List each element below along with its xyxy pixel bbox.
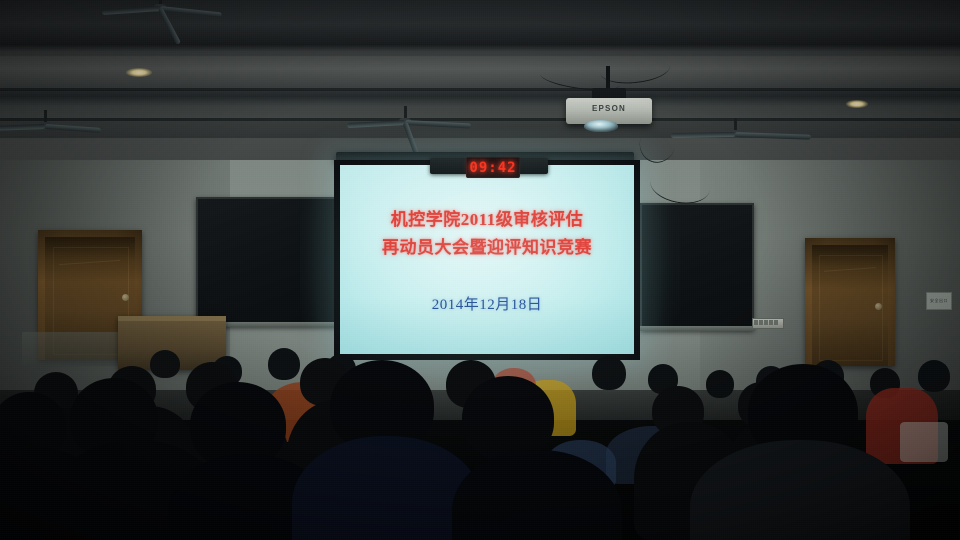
projector-brand-label: EPSON [566,104,652,113]
led-clock: 09:42 [466,157,520,178]
ceiling-light-right [846,100,868,108]
slide-title-line-1: 机控学院2011级审核评估 [340,207,634,233]
projector-lens [584,120,618,132]
fan-blade [160,6,222,17]
blackboard-right [640,203,754,330]
ceiling-fan-1 [100,0,220,22]
ceiling-fan-4 [660,118,810,148]
audience-member-front [462,376,554,460]
audience-member [268,348,300,380]
fan-blade [671,132,735,138]
audience-papers [900,422,948,462]
audience-member [706,370,734,398]
light-switch-panel[interactable] [752,318,784,329]
ceiling-fan-2 [0,110,100,140]
ceiling-fan-3 [340,106,470,136]
audience-member [918,360,950,392]
fan-blade [158,7,181,45]
fan-blade [405,120,471,128]
audience-member [592,356,626,390]
ceiling-beam-upper [0,118,960,138]
lectern-top [118,316,226,321]
audience-member [150,350,180,378]
fan-blade [735,132,811,140]
clock-time-readout: 09:42 [469,161,516,175]
fan-blade [45,124,101,133]
projection-surface: 机控学院2011级审核评估 再动员大会暨迎评知识竞赛 2014年12月18日 [340,165,634,354]
fan-blade [403,122,419,156]
slide-title-line-2: 再动员大会暨迎评知识竞赛 [340,235,634,261]
slide-date: 2014年12月18日 [340,293,634,314]
ceiling-light-left [126,68,152,77]
ceiling-beam-edge-main [0,88,960,91]
ceiling-beam-edge-upper [0,118,960,121]
lecture-hall-photo: 安全出口 EPSON 机控学院2011级审核评估 [0,0,960,540]
exit-sign: 安全出口 [926,292,952,310]
fan-blade [347,120,405,128]
blackboard-left [196,197,348,326]
audience [0,330,960,540]
fan-blade [0,124,45,131]
ceiling [0,0,960,172]
fan-blade [102,6,160,15]
